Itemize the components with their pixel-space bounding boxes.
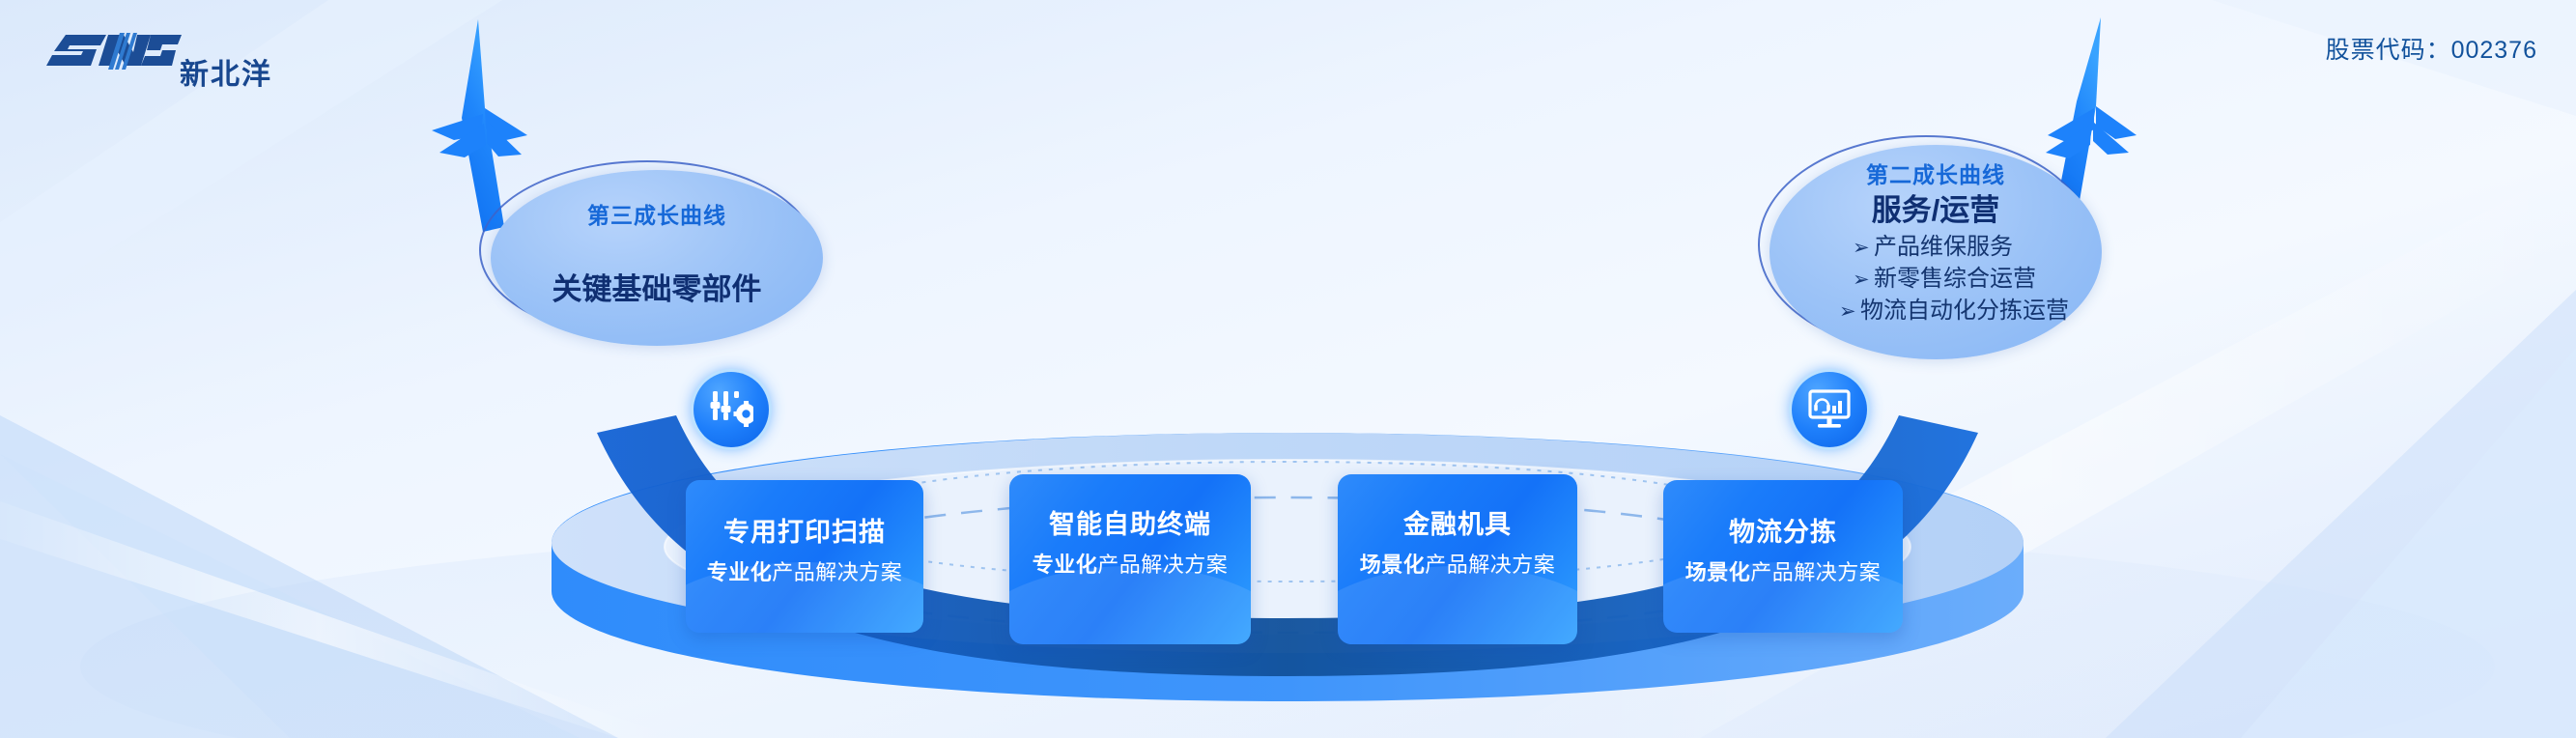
product-card-3-desc-strong: 场景化: [1360, 553, 1426, 577]
product-card-3-title: 金融机具: [1338, 503, 1577, 541]
list-item: ➢新零售综合运营: [1769, 264, 2102, 296]
product-card-1-desc-rest: 产品解决方案: [772, 560, 902, 584]
list-item: ➢产品维保服务: [1769, 232, 2102, 264]
second-curve-item-2: 新零售综合运营: [1874, 266, 2036, 292]
product-card-2-desc: 专业化产品解决方案: [1009, 548, 1251, 579]
third-curve-label: 第三成长曲线: [491, 197, 823, 230]
second-curve-item-3: 物流自动化分拣运营: [1860, 298, 2069, 324]
second-curve-badge[interactable]: [1792, 372, 1867, 447]
second-curve-item-1: 产品维保服务: [1874, 234, 2013, 260]
diagram-graphics: [0, 0, 2576, 738]
second-curve-label: 第二成长曲线: [1769, 156, 2102, 189]
product-card-1[interactable]: 专用打印扫描 专业化产品解决方案: [686, 480, 923, 633]
monitor-headset-chart-icon: [1807, 388, 1852, 431]
product-card-4-desc-rest: 产品解决方案: [1750, 560, 1881, 584]
product-card-1-desc-strong: 专业化: [707, 560, 773, 584]
third-curve-badge[interactable]: [694, 372, 769, 447]
product-card-4-desc: 场景化产品解决方案: [1663, 555, 1903, 586]
second-curve-title: 服务/运营: [1769, 185, 2102, 229]
product-card-1-desc: 专业化产品解决方案: [686, 555, 923, 586]
product-card-1-title: 专用打印扫描: [686, 511, 923, 549]
third-curve-title: 关键基础零部件: [491, 265, 823, 308]
sliders-gear-icon: [709, 387, 753, 432]
bullet-arrow-icon: ➢: [1853, 233, 1874, 264]
product-card-3-desc: 场景化产品解决方案: [1338, 548, 1577, 579]
product-card-3-desc-rest: 产品解决方案: [1425, 553, 1555, 577]
product-card-2-desc-rest: 产品解决方案: [1097, 553, 1228, 577]
product-card-2-title: 智能自助终端: [1009, 503, 1251, 541]
product-card-2[interactable]: 智能自助终端 专业化产品解决方案: [1009, 474, 1251, 644]
second-curve-bubble[interactable]: 第二成长曲线 服务/运营 ➢产品维保服务 ➢新零售综合运营 ➢物流自动化分拣运营: [1769, 145, 2102, 359]
product-card-2-desc-strong: 专业化: [1033, 553, 1098, 577]
product-card-4[interactable]: 物流分拣 场景化产品解决方案: [1663, 480, 1903, 633]
product-card-4-desc-strong: 场景化: [1685, 560, 1751, 584]
bullet-arrow-icon: ➢: [1839, 297, 1860, 327]
bullet-arrow-icon: ➢: [1853, 265, 1874, 296]
product-card-4-title: 物流分拣: [1663, 511, 1903, 549]
second-curve-list: ➢产品维保服务 ➢新零售综合运营 ➢物流自动化分拣运营: [1769, 232, 2102, 327]
third-curve-bubble[interactable]: 第三成长曲线 关键基础零部件: [491, 170, 823, 346]
infographic-canvas: 新北洋 股票代码：002376: [0, 0, 2576, 738]
list-item: ➢物流自动化分拣运营: [1769, 296, 2102, 327]
product-card-3[interactable]: 金融机具 场景化产品解决方案: [1338, 474, 1577, 644]
